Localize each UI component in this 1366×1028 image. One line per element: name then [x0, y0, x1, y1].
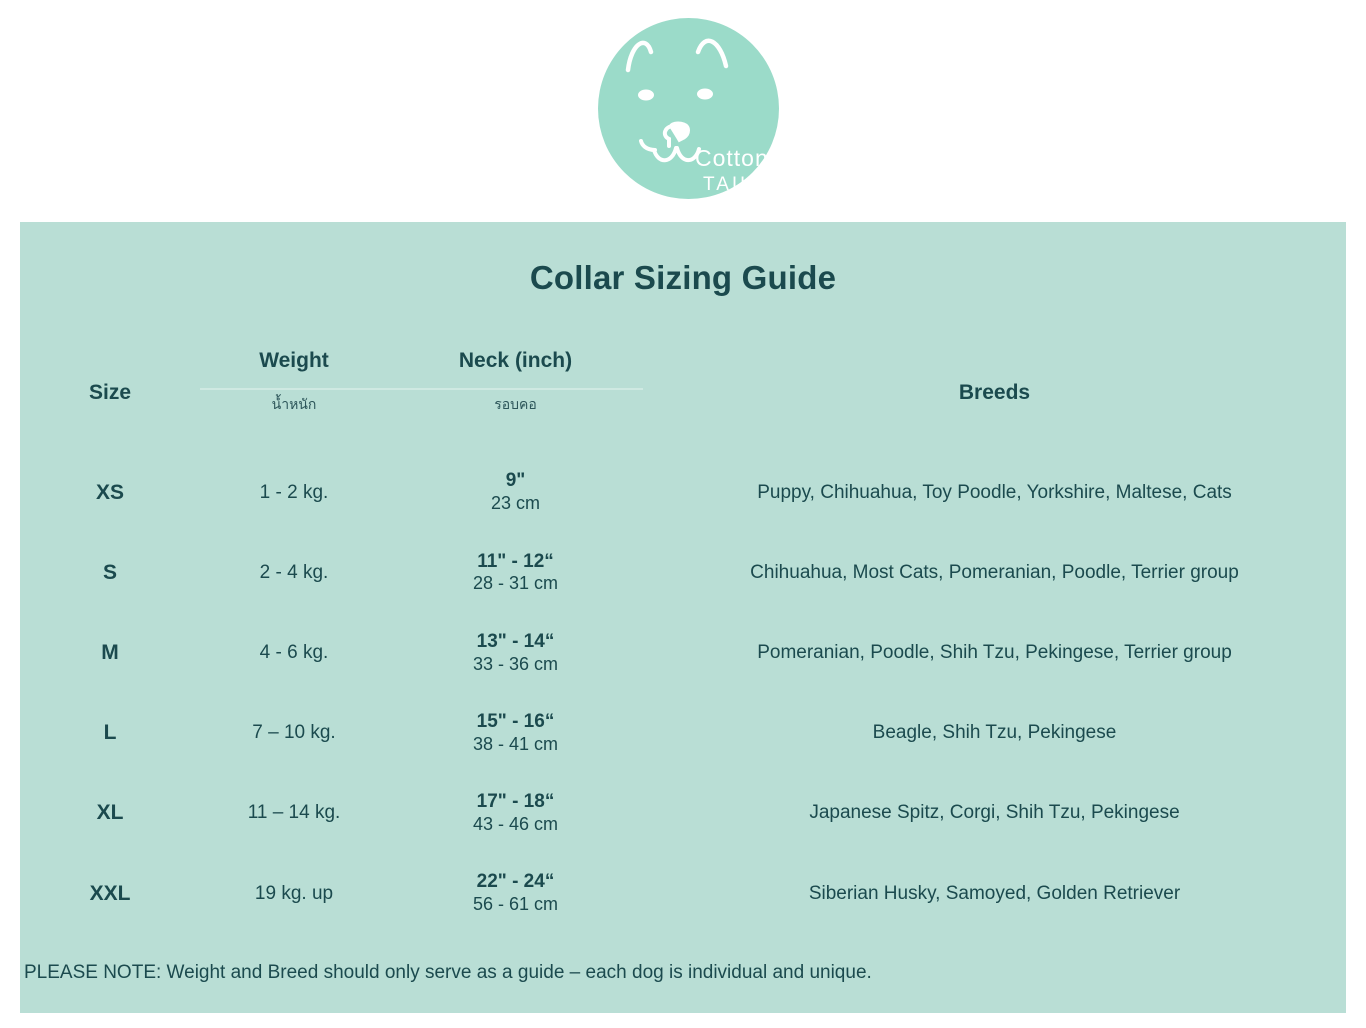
cell-neck-inch: 15" - 16“: [388, 711, 643, 734]
collar-sizing-guide-page: Cotton TAIL Collar Sizing Guide: [0, 0, 1366, 1028]
cell-breeds: Siberian Husky, Samoyed, Golden Retrieve…: [643, 854, 1346, 934]
cell-neck: 13" - 14“ 33 - 36 cm: [388, 613, 643, 693]
cell-neck-inch: 13" - 14“: [388, 631, 643, 654]
cell-size: XS: [20, 453, 200, 533]
column-header-weight: Weight น้ำหนัก: [200, 334, 388, 452]
column-header-weight-label: Weight: [200, 334, 388, 390]
cell-neck-cm: 28 - 31 cm: [388, 573, 643, 595]
table-note-row: PLEASE NOTE: Weight and Breed should onl…: [20, 934, 1346, 1013]
cell-neck: 11" - 12“ 28 - 31 cm: [388, 533, 643, 613]
column-header-size: Size: [20, 334, 200, 452]
column-header-neck: Neck (inch) รอบคอ: [388, 334, 643, 452]
column-header-breeds: Breeds: [643, 334, 1346, 452]
cell-breeds: Japanese Spitz, Corgi, Shih Tzu, Pekinge…: [643, 773, 1346, 853]
page-title: Collar Sizing Guide: [20, 222, 1346, 334]
column-header-breeds-label: Breeds: [959, 381, 1030, 404]
table-row: XL 11 – 14 kg. 17" - 18“ 43 - 46 cm Japa…: [20, 773, 1346, 853]
table-header-row: Size Weight น้ำหนัก Neck (inch): [20, 334, 1346, 452]
column-header-neck-thai: รอบคอ: [388, 390, 643, 452]
column-header-weight-thai: น้ำหนัก: [200, 390, 388, 452]
cell-size: M: [20, 613, 200, 693]
brand-logo: Cotton TAIL: [598, 18, 779, 199]
cell-neck-inch: 9": [388, 470, 643, 493]
column-header-neck-unit: (inch): [515, 349, 572, 373]
cell-neck: 9" 23 cm: [388, 453, 643, 533]
cell-neck-inch: 22" - 24“: [388, 871, 643, 894]
cell-size: L: [20, 693, 200, 773]
table-row: XXL 19 kg. up 22" - 24“ 56 - 61 cm Siber…: [20, 854, 1346, 934]
table-row: S 2 - 4 kg. 11" - 12“ 28 - 31 cm Chihuah…: [20, 533, 1346, 613]
cell-neck-cm: 38 - 41 cm: [388, 734, 643, 756]
table-row: XS 1 - 2 kg. 9" 23 cm Puppy, Chihuahua, …: [20, 453, 1346, 533]
cell-neck-inch: 17" - 18“: [388, 791, 643, 814]
sizing-table-container: Collar Sizing Guide Size Weight น้ำหนัก: [20, 222, 1346, 1013]
cell-size: XL: [20, 773, 200, 853]
cell-neck-inch: 11" - 12“: [388, 551, 643, 574]
cell-neck: 17" - 18“ 43 - 46 cm: [388, 773, 643, 853]
column-header-neck-label: Neck (inch): [388, 334, 643, 390]
column-header-size-label: Size: [89, 381, 131, 404]
cell-neck: 22" - 24“ 56 - 61 cm: [388, 854, 643, 934]
cell-breeds: Chihuahua, Most Cats, Pomeranian, Poodle…: [643, 533, 1346, 613]
cell-size: XXL: [20, 854, 200, 934]
cell-breeds: Puppy, Chihuahua, Toy Poodle, Yorkshire,…: [643, 453, 1346, 533]
cell-neck-cm: 56 - 61 cm: [388, 894, 643, 916]
cell-weight: 2 - 4 kg.: [200, 533, 388, 613]
table-title-row: Collar Sizing Guide: [20, 222, 1346, 334]
cell-weight: 7 – 10 kg.: [200, 693, 388, 773]
cell-weight: 1 - 2 kg.: [200, 453, 388, 533]
cell-breeds: Pomeranian, Poodle, Shih Tzu, Pekingese,…: [643, 613, 1346, 693]
logo-wordmark-secondary: TAIL: [703, 174, 754, 195]
cell-neck-cm: 43 - 46 cm: [388, 814, 643, 836]
cell-size: S: [20, 533, 200, 613]
table-row: M 4 - 6 kg. 13" - 14“ 33 - 36 cm Pomeran…: [20, 613, 1346, 693]
please-note-text: PLEASE NOTE: Weight and Breed should onl…: [20, 934, 1346, 1013]
cell-neck-cm: 33 - 36 cm: [388, 654, 643, 676]
collar-sizing-table: Collar Sizing Guide Size Weight น้ำหนัก: [20, 222, 1346, 1013]
cell-weight: 4 - 6 kg.: [200, 613, 388, 693]
dog-face-logo-icon: Cotton TAIL: [598, 18, 779, 199]
column-header-neck-text: Neck: [459, 349, 509, 373]
cell-breeds: Beagle, Shih Tzu, Pekingese: [643, 693, 1346, 773]
table-row: L 7 – 10 kg. 15" - 16“ 38 - 41 cm Beagle…: [20, 693, 1346, 773]
cell-neck-cm: 23 cm: [388, 493, 643, 515]
cell-neck: 15" - 16“ 38 - 41 cm: [388, 693, 643, 773]
logo-wordmark-primary: Cotton: [695, 145, 769, 171]
cell-weight: 19 kg. up: [200, 854, 388, 934]
cell-weight: 11 – 14 kg.: [200, 773, 388, 853]
